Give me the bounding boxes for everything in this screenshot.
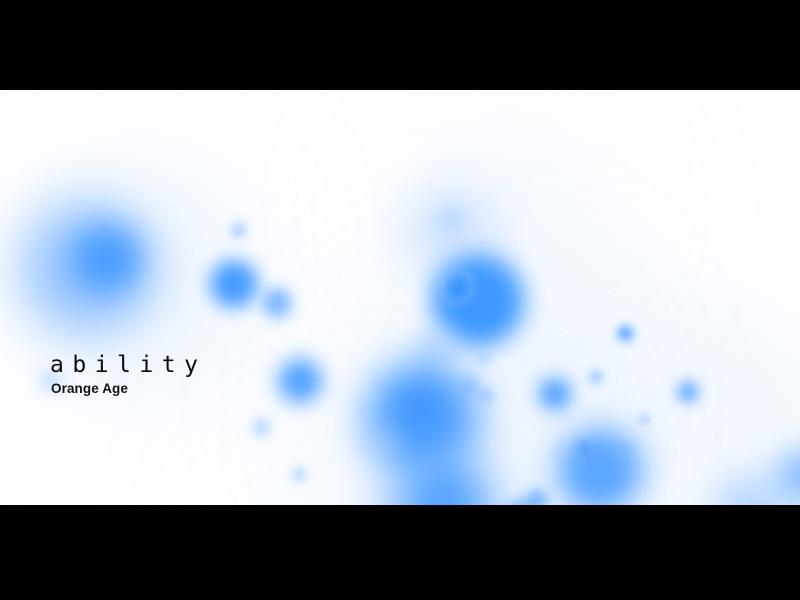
bokeh-right-big bbox=[557, 429, 643, 505]
haze-far-right bbox=[660, 320, 800, 505]
bokeh-center-dot-a bbox=[462, 378, 478, 394]
bokeh-left-core bbox=[74, 226, 140, 292]
bokeh-upper-dot bbox=[231, 223, 246, 238]
bokeh-top-faint-a bbox=[405, 185, 497, 277]
bokeh-right-big-core bbox=[572, 442, 626, 496]
bokeh-right-tiny bbox=[640, 415, 649, 424]
bokeh-right-side-dot bbox=[615, 444, 631, 460]
bokeh-center-dot-b bbox=[481, 390, 493, 402]
haze-right bbox=[500, 250, 800, 505]
bokeh-center-ring bbox=[440, 270, 474, 304]
bokeh-center-big bbox=[432, 255, 524, 347]
bokeh-right-low-a bbox=[527, 490, 547, 505]
title-card: ability Orange Age bbox=[50, 352, 206, 397]
page-title: ability bbox=[50, 352, 206, 378]
letterbox-bar-bottom bbox=[0, 505, 800, 600]
bokeh-far-right-light bbox=[712, 474, 790, 505]
bokeh-mid-left bbox=[278, 359, 322, 403]
video-frame: ability Orange Age bbox=[0, 0, 800, 600]
haze-center bbox=[300, 240, 640, 505]
bokeh-upper-small bbox=[262, 288, 292, 318]
letterbox-bar-top bbox=[0, 0, 800, 90]
bokeh-right-cluster-a bbox=[539, 378, 571, 410]
bokeh-bottom-core bbox=[418, 472, 472, 505]
bokeh-left-large-soft bbox=[22, 202, 154, 334]
bokeh-right-upper-dot bbox=[618, 326, 633, 341]
bokeh-mid-left-tiny bbox=[253, 419, 270, 436]
bokeh-bottom-big bbox=[388, 458, 496, 505]
bokeh-lower-center-core bbox=[402, 386, 438, 422]
bokeh-right-lower-tiny bbox=[555, 448, 563, 456]
bokeh-lower-left-soft bbox=[368, 428, 398, 458]
subtitle: Orange Age bbox=[51, 381, 206, 397]
haze-center-top bbox=[370, 90, 650, 350]
bokeh-center-dot-c bbox=[478, 352, 490, 364]
bokeh-top-faint-core bbox=[437, 206, 465, 234]
bokeh-lower-center-big bbox=[366, 362, 478, 474]
bokeh-far-right-edge bbox=[778, 450, 800, 502]
bokeh-center-left-soft bbox=[415, 328, 455, 368]
bokeh-center-ring-core bbox=[450, 280, 464, 294]
bokeh-upper-mid bbox=[210, 260, 258, 308]
bokeh-right-mid-dot bbox=[590, 371, 602, 383]
video-stage: ability Orange Age bbox=[0, 90, 800, 505]
haze-bottom bbox=[200, 380, 530, 505]
bokeh-top-faint-b bbox=[440, 238, 510, 308]
bokeh-right-far-dot bbox=[678, 382, 698, 402]
bokeh-title-dot bbox=[293, 468, 306, 481]
bokeh-right-big-dot bbox=[578, 442, 590, 454]
